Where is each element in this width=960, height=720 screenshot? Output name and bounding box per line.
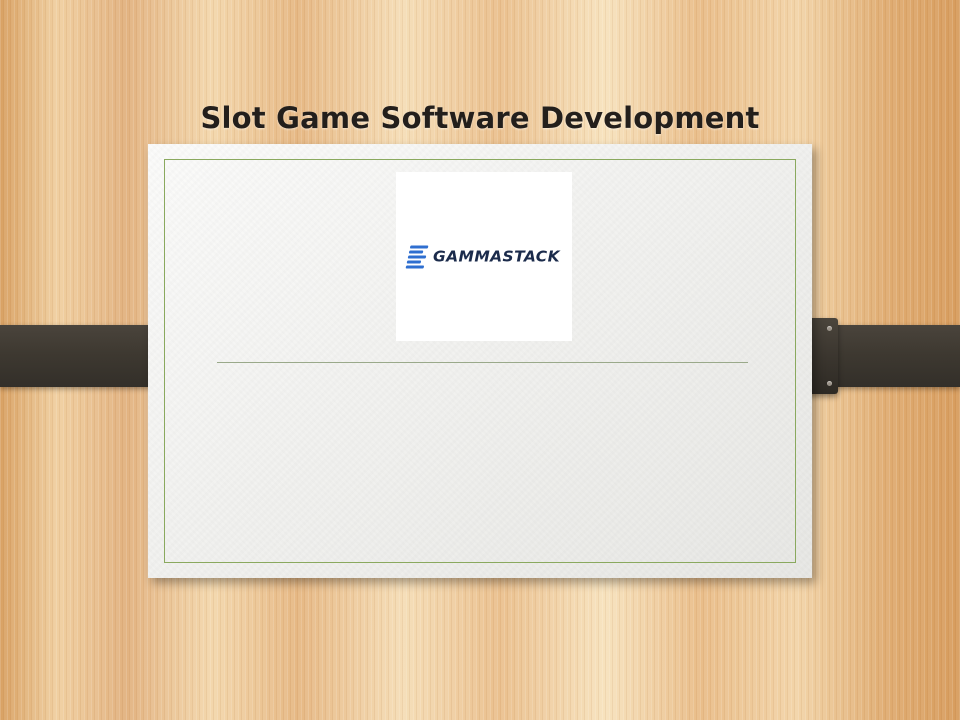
logo-wordmark: GAMMASTACK	[433, 248, 560, 266]
strap-stud	[827, 381, 832, 386]
strap-stud	[827, 326, 832, 331]
content-separator	[217, 362, 748, 363]
company-logo: GAMMASTACK	[396, 172, 572, 341]
page-title: Slot Game Software Development	[0, 101, 960, 135]
stacked-bars-icon	[406, 245, 429, 268]
slide-canvas: GAMMASTACK Slot Game Software Developmen…	[0, 0, 960, 720]
logo-inner: GAMMASTACK	[396, 245, 572, 268]
